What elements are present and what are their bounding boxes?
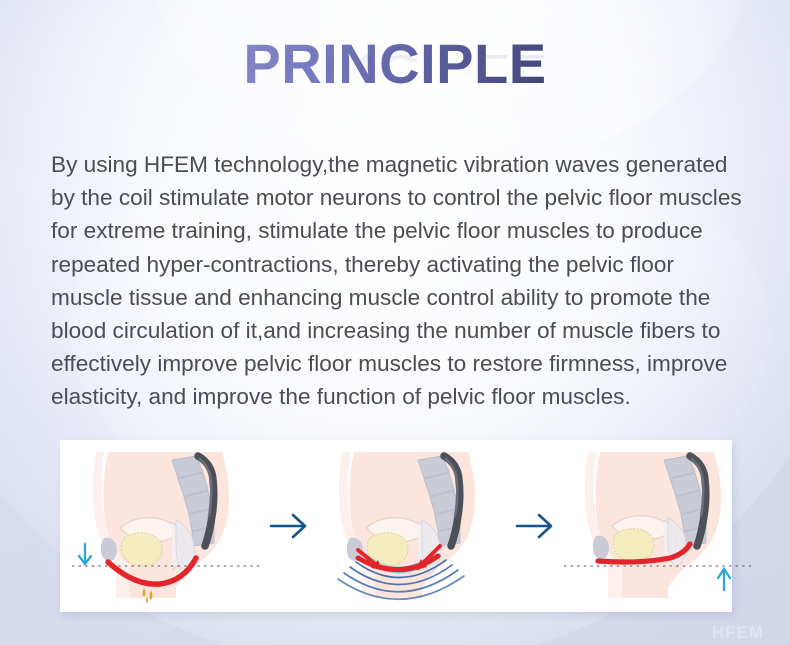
principle-paragraph: By using HFEM technology,the magnetic vi… <box>51 148 751 414</box>
anatomy-diagram-after <box>564 446 754 606</box>
arrow-right-icon <box>514 511 558 541</box>
illustration-panel <box>60 440 732 612</box>
watermark: HFEM <box>712 623 764 643</box>
figure-after-treatment <box>564 446 754 606</box>
page-title: PRINCIPLE <box>243 36 546 92</box>
anatomy-diagram-before <box>72 446 262 606</box>
figure-before-treatment <box>72 446 262 606</box>
step-arrow-2 <box>508 511 564 541</box>
cue-arrow-down <box>79 544 91 564</box>
anatomy-diagram-during <box>318 446 508 606</box>
page-title-block: PRINCIPLE PRINCIPLE <box>0 36 790 140</box>
bladder <box>613 529 654 561</box>
step-arrow-1 <box>262 511 318 541</box>
cue-arrow-up <box>718 569 730 590</box>
arrow-right-icon <box>268 511 312 541</box>
figure-during-treatment <box>318 446 508 606</box>
principle-page: HFEM PRINCIPLE PRINCIPLE By using HFEM t… <box>0 0 790 645</box>
